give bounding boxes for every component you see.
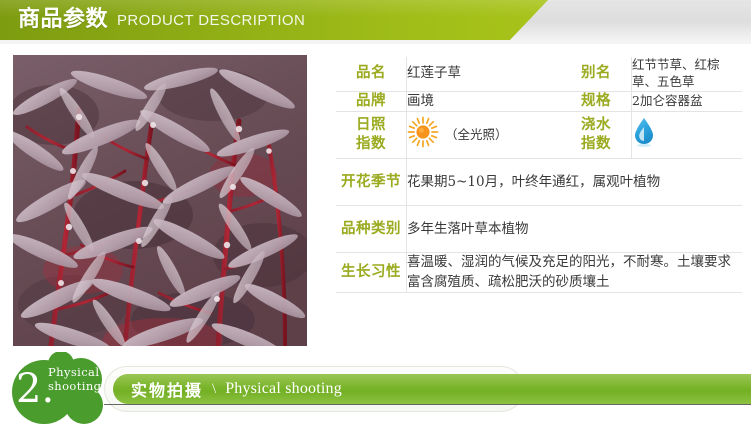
- spec-value-bieming: 红节节草、红棕草、五色草: [632, 57, 743, 91]
- badge-english-line2: shooting: [48, 380, 101, 394]
- section-title-english: Physical shooting: [225, 380, 342, 398]
- spec-label-shengzhang-xixing: 生长习性: [336, 253, 407, 293]
- spec-value-shengzhang-xixing: 喜温暖、湿润的气候及充足的阳光，不耐寒。土壤要求富含腐殖质、疏松肥沃的砂质壤土: [407, 253, 743, 293]
- spec-label-jiaoshui-zhishu: 浇水 指数: [561, 112, 632, 159]
- spec-label-kaihua-jijie: 开花季节: [336, 159, 407, 206]
- spec-value-jiaoshui-zhishu: [632, 112, 743, 159]
- spec-value-pinzhong-leibie: 多年生落叶草本植物: [407, 206, 743, 253]
- spec-label-pinzhong-leibie: 品种类别: [336, 206, 407, 253]
- section-bar-text-group: 实物拍摄 \ Physical shooting: [131, 374, 342, 404]
- badge-english-label: Physical shooting: [48, 366, 101, 393]
- section-title-separator: \: [212, 381, 216, 398]
- product-spec-table: 品名 红莲子草 别名 红节节草、红棕草、五色草 品牌 画境 规格 2加仑容器盆 …: [336, 57, 742, 293]
- spec-label-bieming: 别名: [561, 57, 632, 91]
- spec-label-guige: 规格: [561, 91, 632, 112]
- section-bar-underline: [104, 404, 751, 405]
- table-row: 品种类别 多年生落叶草本植物: [336, 206, 742, 253]
- sun-cell-group: （全光照）: [407, 116, 561, 155]
- section-number-badge: 2. Physical shooting: [6, 352, 124, 427]
- spec-value-pinming: 红莲子草: [407, 57, 562, 91]
- table-row: 开花季节 花果期5~10月，叶终年通红，属观叶植物: [336, 159, 742, 206]
- table-row: 日照 指数: [336, 112, 742, 159]
- table-row: 品名 红莲子草 别名 红节节草、红棕草、五色草: [336, 57, 742, 91]
- badge-english-line1: Physical: [48, 366, 101, 380]
- table-row: 品牌 画境 规格 2加仑容器盆: [336, 91, 742, 112]
- spec-value-guige: 2加仑容器盆: [632, 91, 743, 112]
- product-photo: [13, 55, 307, 346]
- page-title-english: PRODUCT DESCRIPTION: [117, 13, 305, 28]
- spec-value-rizhao-zhishu: （全光照）: [407, 112, 562, 159]
- section-title-chinese: 实物拍摄: [131, 377, 203, 401]
- spec-label-rizhao-zhishu: 日照 指数: [336, 112, 407, 159]
- spec-label-rizhao-line2: 指数: [336, 135, 406, 155]
- header-underline: [0, 40, 751, 44]
- spec-value-kaihua-jijie: 花果期5~10月，叶终年通红，属观叶植物: [407, 159, 743, 206]
- spec-label-pinming: 品名: [336, 57, 407, 91]
- spec-label-jiaoshui-line2: 指数: [561, 135, 631, 155]
- sun-icon: [407, 116, 439, 155]
- header-title-group: 商品参数 PRODUCT DESCRIPTION: [18, 0, 305, 40]
- spec-label-pinpai: 品牌: [336, 91, 407, 112]
- table-row: 生长习性 喜温暖、湿润的气候及充足的阳光，不耐寒。土壤要求富含腐殖质、疏松肥沃的…: [336, 253, 742, 293]
- spec-value-pinpai: 画境: [407, 91, 562, 112]
- page-header: 商品参数 PRODUCT DESCRIPTION: [0, 0, 751, 40]
- spec-label-rizhao-line1: 日照: [336, 116, 406, 136]
- sun-note-label: （全光照）: [445, 126, 508, 144]
- spec-label-jiaoshui-line1: 浇水: [561, 116, 631, 136]
- water-drop-icon: [632, 135, 656, 151]
- section-banner: 实物拍摄 \ Physical shooting 2. Physical sho…: [0, 352, 751, 427]
- page-title-chinese: 商品参数: [18, 9, 108, 31]
- plant-photo-illustration: [13, 55, 307, 346]
